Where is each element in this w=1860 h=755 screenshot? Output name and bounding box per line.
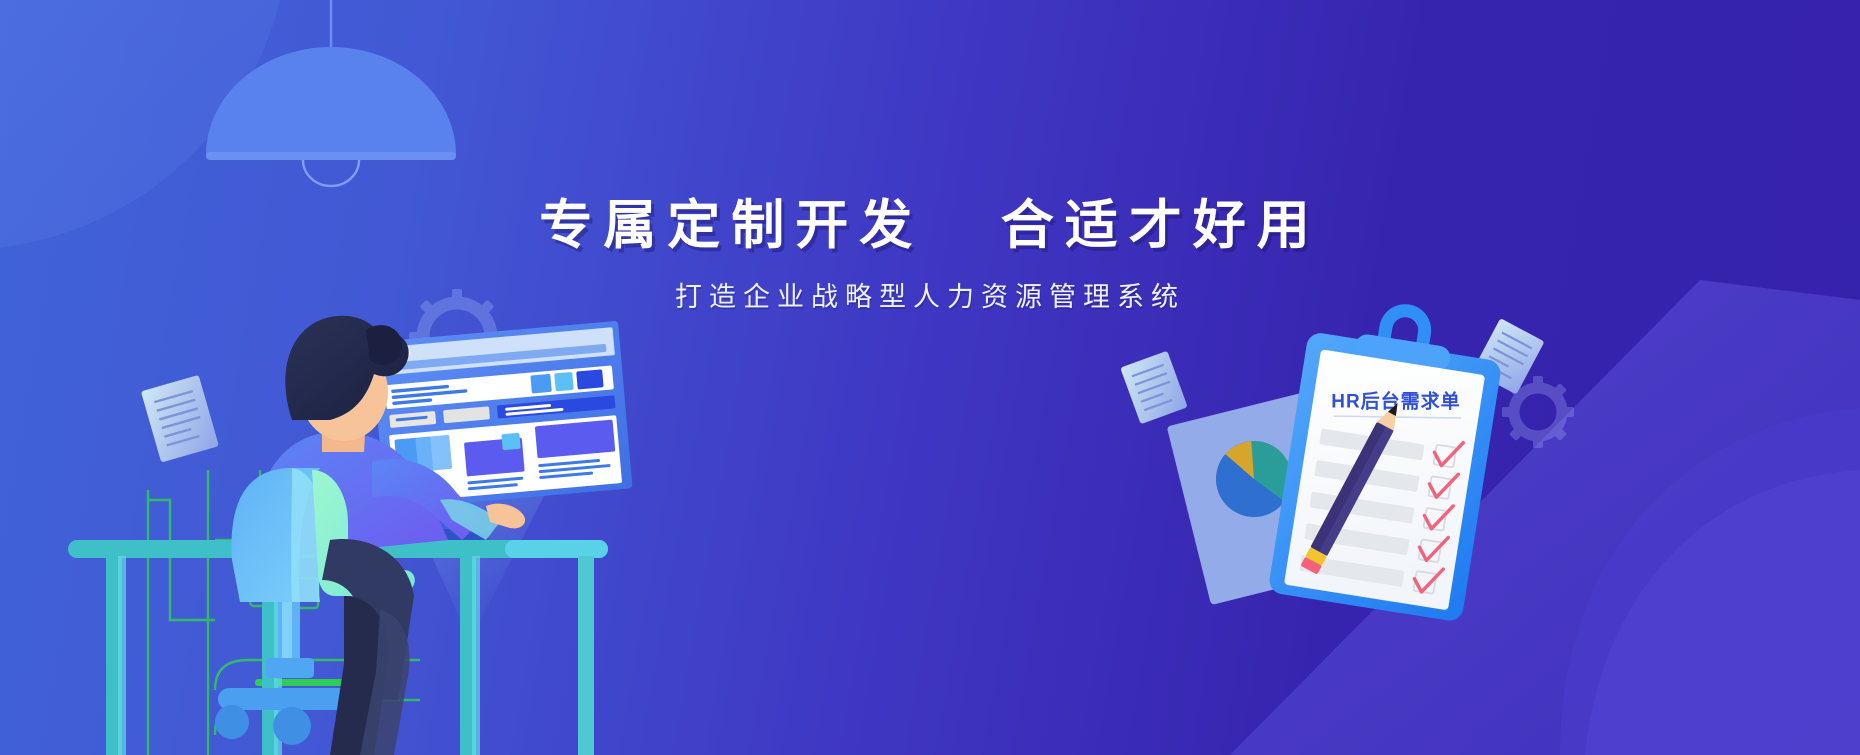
illustration-clipboard-checklist: HR后台需求单 [0, 0, 1860, 755]
hero-banner: HR后台需求单 [0, 0, 1860, 755]
clipboard: HR后台需求单 [1268, 290, 1509, 623]
